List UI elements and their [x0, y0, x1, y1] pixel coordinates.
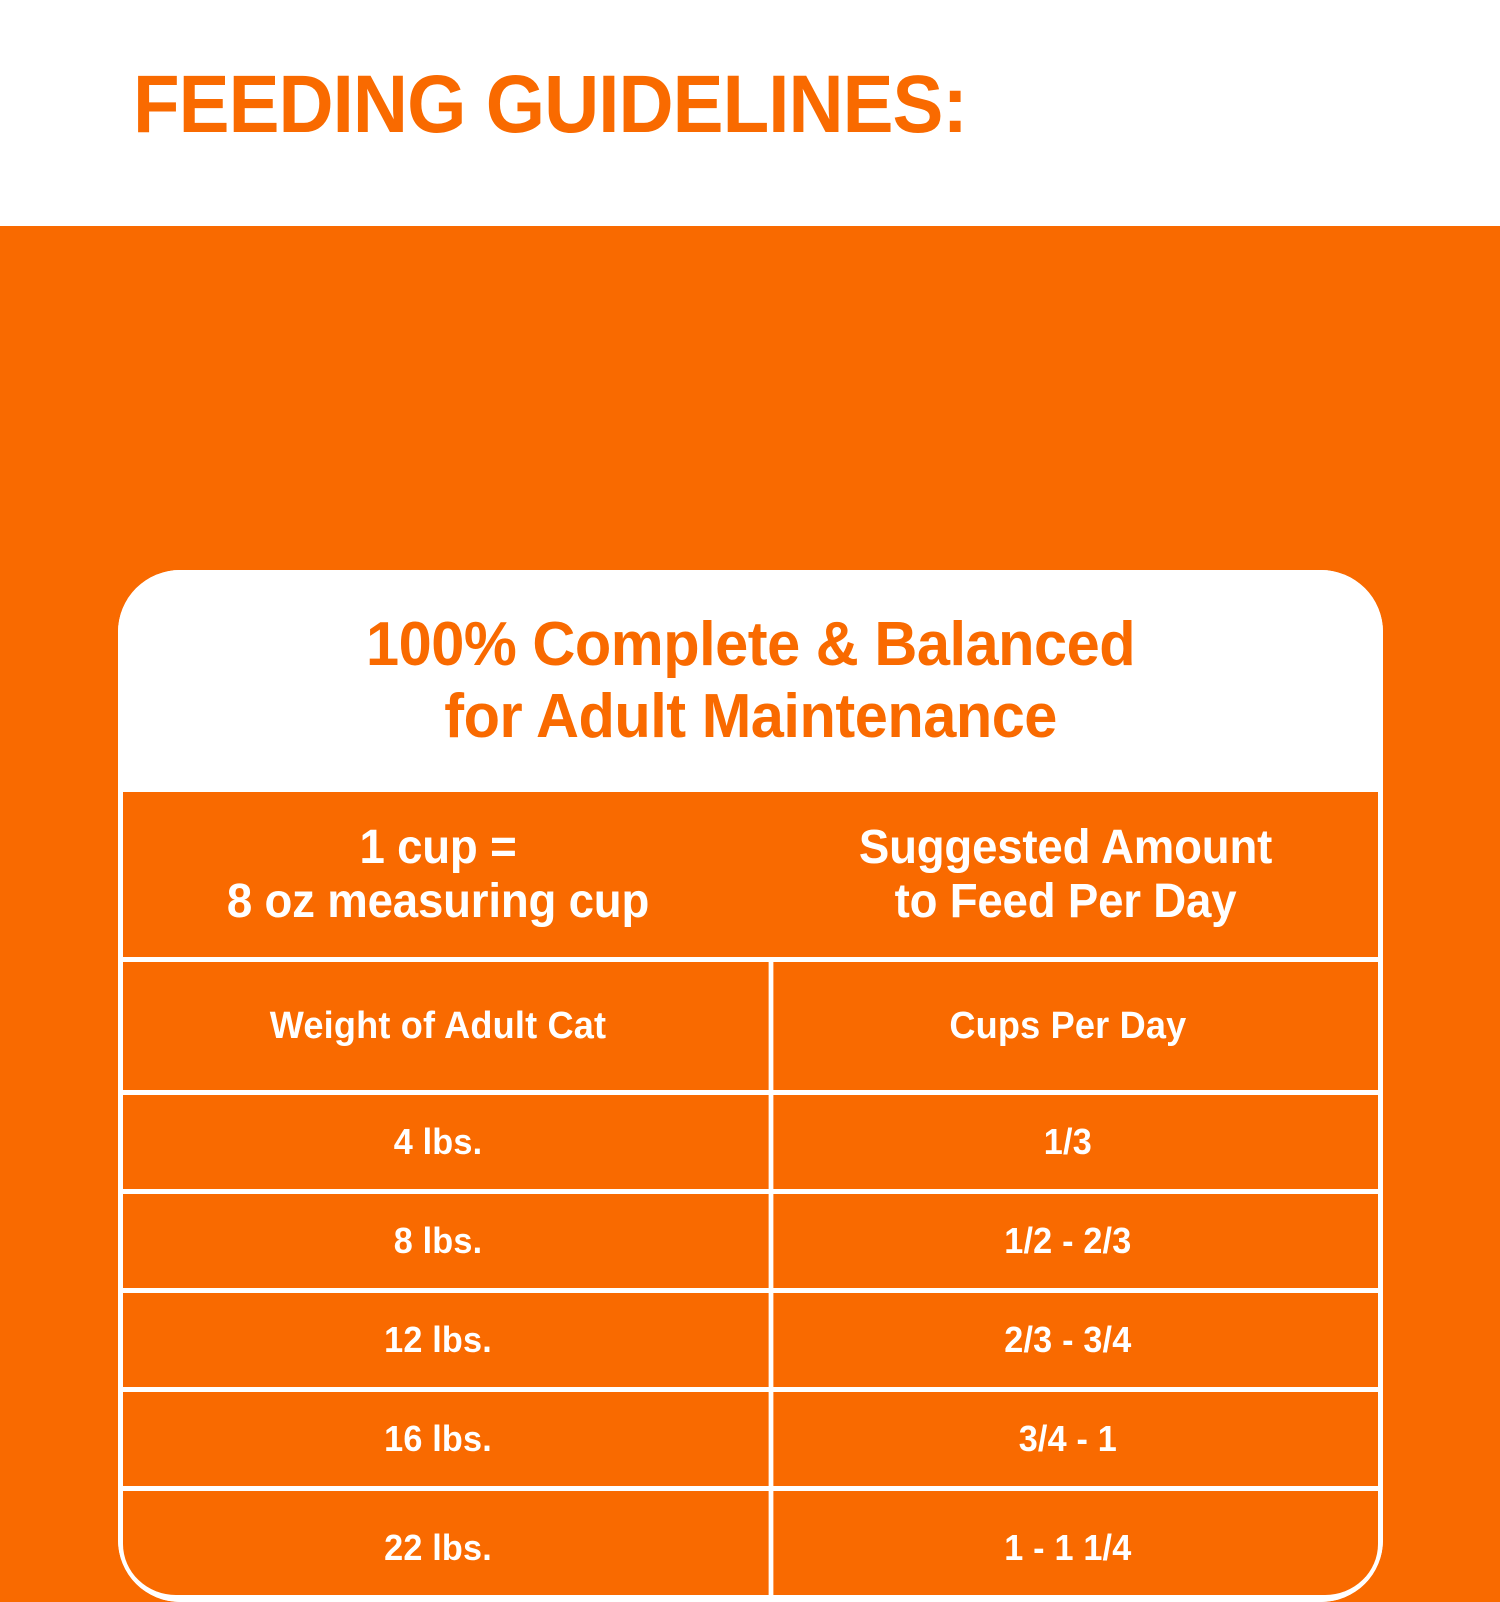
cell-weight: 16 lbs. — [139, 1392, 738, 1486]
column-label-cups: Cups Per Day — [769, 962, 1363, 1090]
table-header-cell-measure: 1 cup = 8 oz measuring cup — [139, 792, 738, 957]
card-heading-line-1: 100% Complete & Balanced — [366, 610, 1135, 679]
page-body: 100% Complete & Balanced for Adult Maint… — [0, 226, 1500, 1500]
measure-line-1: 1 cup = — [359, 821, 516, 874]
cell-cups: 1 - 1 1/4 — [769, 1491, 1363, 1602]
table-row: 8 lbs. 1/2 - 2/3 — [123, 1189, 1378, 1288]
card-heading-text: 100% Complete & Balanced for Adult Maint… — [366, 609, 1135, 753]
feeding-table: 1 cup = 8 oz measuring cup Suggested Amo… — [118, 792, 1383, 1602]
cell-weight: 8 lbs. — [139, 1194, 738, 1288]
card-heading: 100% Complete & Balanced for Adult Maint… — [118, 570, 1383, 792]
cell-cups: 1/2 - 2/3 — [769, 1194, 1363, 1288]
suggested-line-2: to Feed Per Day — [895, 875, 1237, 928]
cell-weight: 22 lbs. — [139, 1491, 738, 1602]
table-row: 16 lbs. 3/4 - 1 — [123, 1387, 1378, 1486]
measure-line-2: 8 oz measuring cup — [227, 875, 649, 928]
feeding-guidelines-card: 100% Complete & Balanced for Adult Maint… — [118, 570, 1383, 1602]
cell-cups: 1/3 — [769, 1095, 1363, 1189]
table-row: 4 lbs. 1/3 — [123, 1090, 1378, 1189]
table-row: 12 lbs. 2/3 - 3/4 — [123, 1288, 1378, 1387]
cell-weight: 4 lbs. — [139, 1095, 738, 1189]
table-header-row: 1 cup = 8 oz measuring cup Suggested Amo… — [123, 792, 1378, 957]
table-header-cell-suggested: Suggested Amount to Feed Per Day — [769, 792, 1363, 957]
cell-cups: 2/3 - 3/4 — [769, 1293, 1363, 1387]
table-column-label-row: Weight of Adult Cat Cups Per Day — [123, 957, 1378, 1090]
page-title: FEEDING GUIDELINES: — [133, 57, 967, 153]
table-row: 22 lbs. 1 - 1 1/4 — [123, 1486, 1378, 1602]
suggested-line-1: Suggested Amount — [859, 821, 1272, 874]
column-label-weight: Weight of Adult Cat — [139, 962, 738, 1090]
cell-weight: 12 lbs. — [139, 1293, 738, 1387]
cell-cups: 3/4 - 1 — [769, 1392, 1363, 1486]
card-heading-line-2: for Adult Maintenance — [444, 682, 1057, 751]
header-banner: FEEDING GUIDELINES: — [0, 0, 1500, 226]
